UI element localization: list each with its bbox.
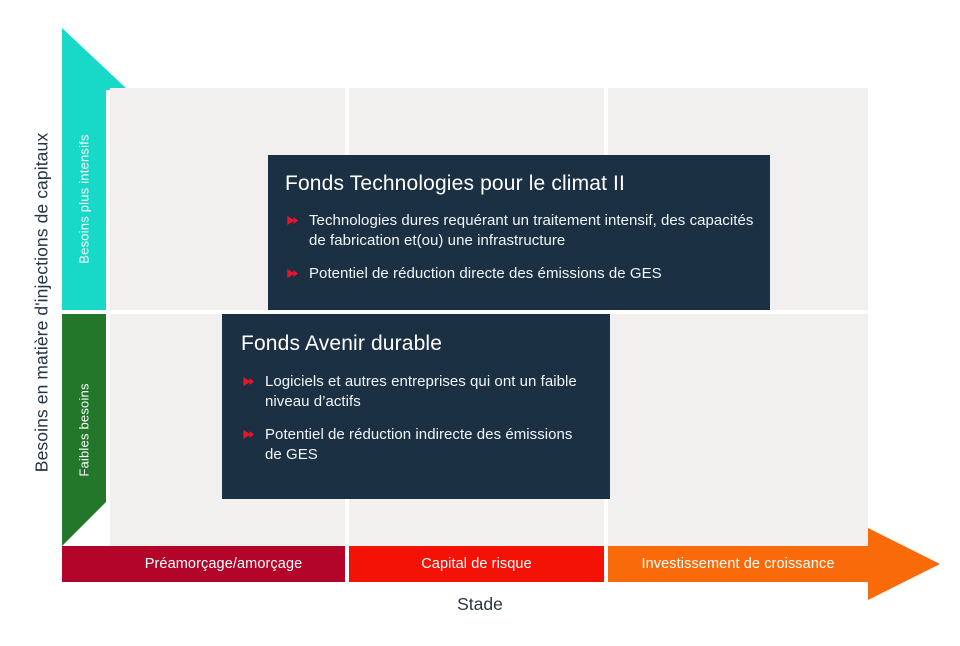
x-axis-arrow-icon <box>868 528 940 600</box>
card-title: Fonds Technologies pour le climat II <box>285 172 770 196</box>
arrow-bullet-icon <box>241 427 256 442</box>
list-item: Technologies dures requérant un traiteme… <box>285 211 754 251</box>
x-band-preseed: Préamorçage/amorçage <box>62 546 345 582</box>
arrow-bullet-icon <box>285 266 300 281</box>
list-item: Potentiel de réduction indirecte des émi… <box>241 425 592 465</box>
list-item-text: Technologies dures requérant un traiteme… <box>309 212 753 249</box>
y-axis-arrow-icon <box>62 28 128 90</box>
list-item-text: Potentiel de réduction indirecte des émi… <box>265 426 572 463</box>
y-band-high: Besoins plus intensifs <box>62 88 106 310</box>
fund-card-climate-tech: Fonds Technologies pour le climat II Tec… <box>268 155 770 310</box>
list-item-text: Logiciels et autres entreprises qui ont … <box>265 373 577 410</box>
x-band-growth: Investissement de croissance <box>608 546 868 582</box>
x-axis-title: Stade <box>0 594 960 615</box>
grid-cell <box>608 314 868 546</box>
card-title: Fonds Avenir durable <box>241 332 610 356</box>
card-bullet-list: Technologies dures requérant un traiteme… <box>285 211 754 284</box>
arrow-bullet-icon <box>285 213 300 228</box>
x-band-growth-label: Investissement de croissance <box>642 556 835 572</box>
y-axis-title: Besoins en matière d'injections de capit… <box>32 23 53 583</box>
matrix-chart: Besoins en matière d'injections de capit… <box>0 0 960 646</box>
x-band-venture: Capital de risque <box>349 546 604 582</box>
card-bullet-list: Logiciels et autres entreprises qui ont … <box>241 372 592 465</box>
y-band-low-label: Faibles besoins <box>77 383 92 476</box>
list-item: Logiciels et autres entreprises qui ont … <box>241 372 592 412</box>
arrow-bullet-icon <box>241 374 256 389</box>
x-band-preseed-label: Préamorçage/amorçage <box>105 556 303 572</box>
x-band-venture-label: Capital de risque <box>421 556 532 572</box>
fund-card-sustainable-future: Fonds Avenir durable Logiciels et autres… <box>222 314 610 499</box>
y-band-high-label: Besoins plus intensifs <box>77 134 92 263</box>
list-item: Potentiel de réduction directe des émiss… <box>285 264 754 284</box>
list-item-text: Potentiel de réduction directe des émiss… <box>309 265 662 282</box>
y-band-low: Faibles besoins <box>62 314 106 546</box>
